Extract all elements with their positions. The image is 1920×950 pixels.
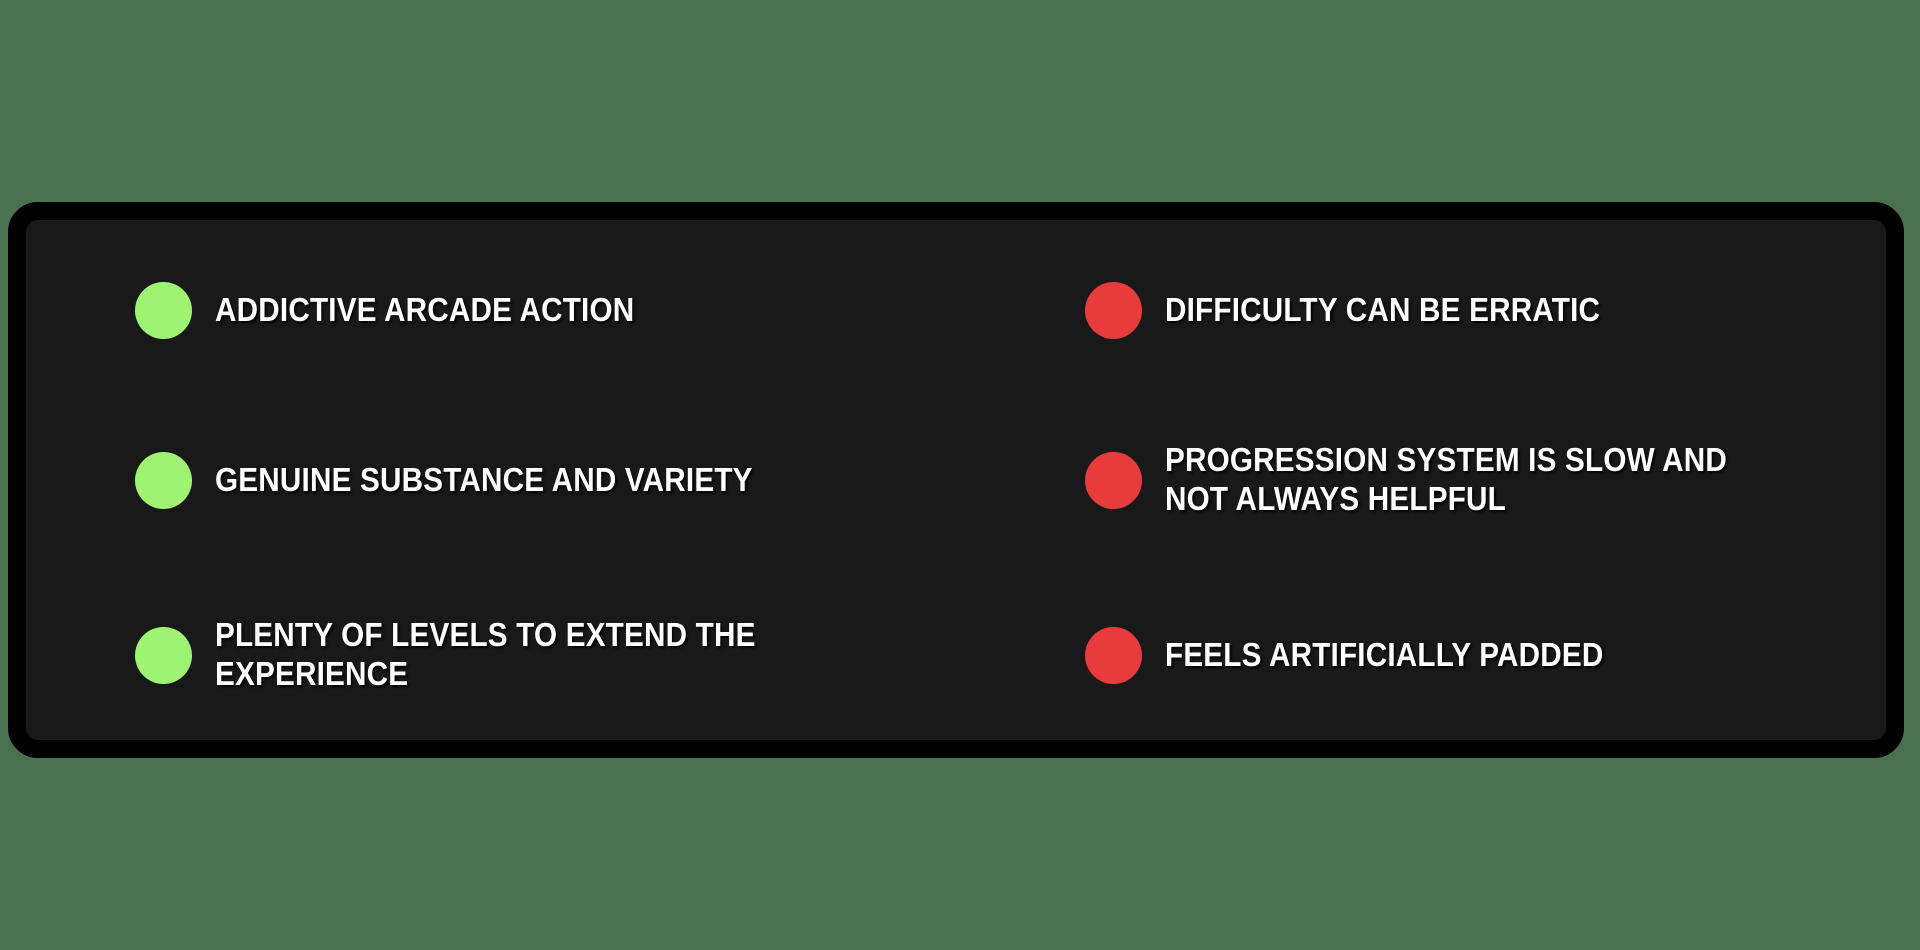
cons-list-item-label: DIFFICULTY CAN BE ERRATIC [1165, 291, 1920, 330]
pros-list-item: GENUINE SUBSTANCE AND VARIETY [26, 442, 1065, 518]
pros-list-item-label: PLENTY OF LEVELS TO EXTEND THE EXPERIENC… [215, 616, 980, 694]
cons-list-item-label: PROGRESSION SYSTEM IS SLOW AND NOT ALWAY… [1165, 441, 1920, 519]
pros-list-item: PLENTY OF LEVELS TO EXTEND THE EXPERIENC… [26, 617, 1065, 693]
green-circle-bullet-icon [135, 282, 192, 339]
green-circle-bullet-icon [135, 452, 192, 509]
cons-list-item: DIFFICULTY CAN BE ERRATIC [1065, 272, 1920, 348]
pros-column: ADDICTIVE ARCADE ACTION GENUINE SUBSTANC… [26, 220, 1065, 740]
cons-column: DIFFICULTY CAN BE ERRATIC PROGRESSION SY… [1065, 220, 1920, 740]
pros-and-cons-card: ADDICTIVE ARCADE ACTION GENUINE SUBSTANC… [8, 202, 1904, 758]
cons-list-item-label: FEELS ARTIFICIALLY PADDED [1165, 636, 1920, 675]
screenshot-stage: ADDICTIVE ARCADE ACTION GENUINE SUBSTANC… [0, 0, 1920, 950]
red-circle-bullet-icon [1085, 627, 1142, 684]
pros-and-cons-columns: ADDICTIVE ARCADE ACTION GENUINE SUBSTANC… [26, 220, 1886, 740]
cons-list-item: PROGRESSION SYSTEM IS SLOW AND NOT ALWAY… [1065, 442, 1920, 518]
pros-list-item-label: GENUINE SUBSTANCE AND VARIETY [215, 461, 980, 500]
red-circle-bullet-icon [1085, 282, 1142, 339]
green-circle-bullet-icon [135, 627, 192, 684]
cons-list-item: FEELS ARTIFICIALLY PADDED [1065, 617, 1920, 693]
red-circle-bullet-icon [1085, 452, 1142, 509]
pros-list-item-label: ADDICTIVE ARCADE ACTION [215, 291, 980, 330]
pros-list-item: ADDICTIVE ARCADE ACTION [26, 272, 1065, 348]
